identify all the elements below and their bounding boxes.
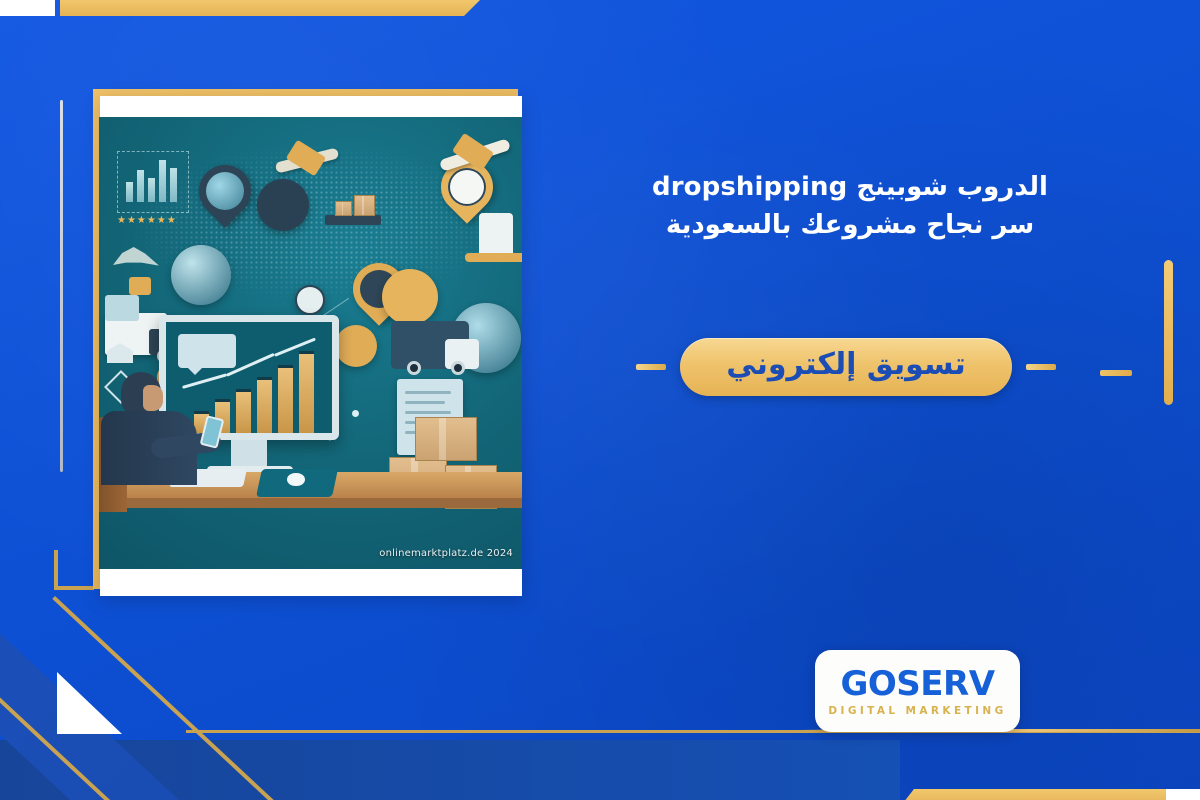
parcel-box bbox=[415, 417, 477, 461]
rating-stars-icon: ★★★★★★ bbox=[117, 216, 191, 226]
desk-edge bbox=[99, 498, 522, 508]
monitor-stand bbox=[231, 440, 267, 468]
cargo-box bbox=[335, 201, 352, 216]
badge-dash-right bbox=[1026, 364, 1056, 370]
dropshipping-illustration: ★★★★★★ bbox=[99, 117, 522, 569]
building-icon bbox=[479, 213, 513, 255]
handshake-circle-icon bbox=[335, 325, 377, 367]
page-title: الدروب شوبينج dropshipping سر نجاح مشروع… bbox=[600, 168, 1100, 244]
screen-tooltip bbox=[178, 334, 236, 368]
computer-mouse bbox=[287, 473, 305, 486]
logo-wordmark: GOSERV bbox=[840, 665, 994, 703]
image-watermark: onlinemarktplatz.de 2024 bbox=[379, 548, 513, 559]
cargo-platform bbox=[325, 215, 381, 225]
headline-line-2: سر نجاح مشروعك بالسعودية bbox=[600, 206, 1100, 244]
headline-line-1: الدروب شوبينج dropshipping bbox=[600, 168, 1100, 206]
person-face bbox=[143, 385, 163, 411]
award-badge-icon bbox=[129, 277, 151, 295]
web-circle-icon bbox=[295, 285, 325, 315]
gold-corner-elbow bbox=[54, 550, 94, 590]
badge-dash-left bbox=[636, 364, 666, 370]
truck-wheel bbox=[451, 361, 465, 375]
analytics-chart-icon bbox=[117, 151, 189, 213]
cargo-box bbox=[354, 195, 375, 216]
globe-circle-icon bbox=[171, 245, 231, 305]
right-gold-dash bbox=[1100, 370, 1132, 376]
right-gold-bar bbox=[1164, 260, 1173, 405]
brand-logo[interactable]: GOSERV DIGITAL MARKETING bbox=[815, 650, 1020, 732]
banner-canvas: ★★★★★★ bbox=[0, 0, 1200, 800]
status-badge[interactable]: تسويق إلكتروني bbox=[680, 338, 1012, 396]
left-vertical-line bbox=[60, 100, 63, 472]
building-base bbox=[465, 253, 522, 262]
hand-circle-icon bbox=[257, 179, 309, 231]
logo-tagline: DIGITAL MARKETING bbox=[828, 704, 1006, 718]
bottom-right-white-block bbox=[1166, 789, 1200, 800]
truck-wheel bbox=[407, 361, 421, 375]
network-node bbox=[352, 410, 359, 417]
illustration-canvas: ★★★★★★ bbox=[99, 117, 522, 569]
category-badge-row: تسويق إلكتروني bbox=[596, 336, 1096, 398]
top-gold-bar bbox=[60, 0, 480, 16]
bottom-gold-bar bbox=[900, 789, 1166, 800]
package-circle-icon bbox=[382, 269, 438, 325]
keypad-icon bbox=[105, 295, 139, 321]
corner-white-triangle bbox=[57, 672, 122, 734]
top-left-white-block bbox=[0, 0, 55, 16]
